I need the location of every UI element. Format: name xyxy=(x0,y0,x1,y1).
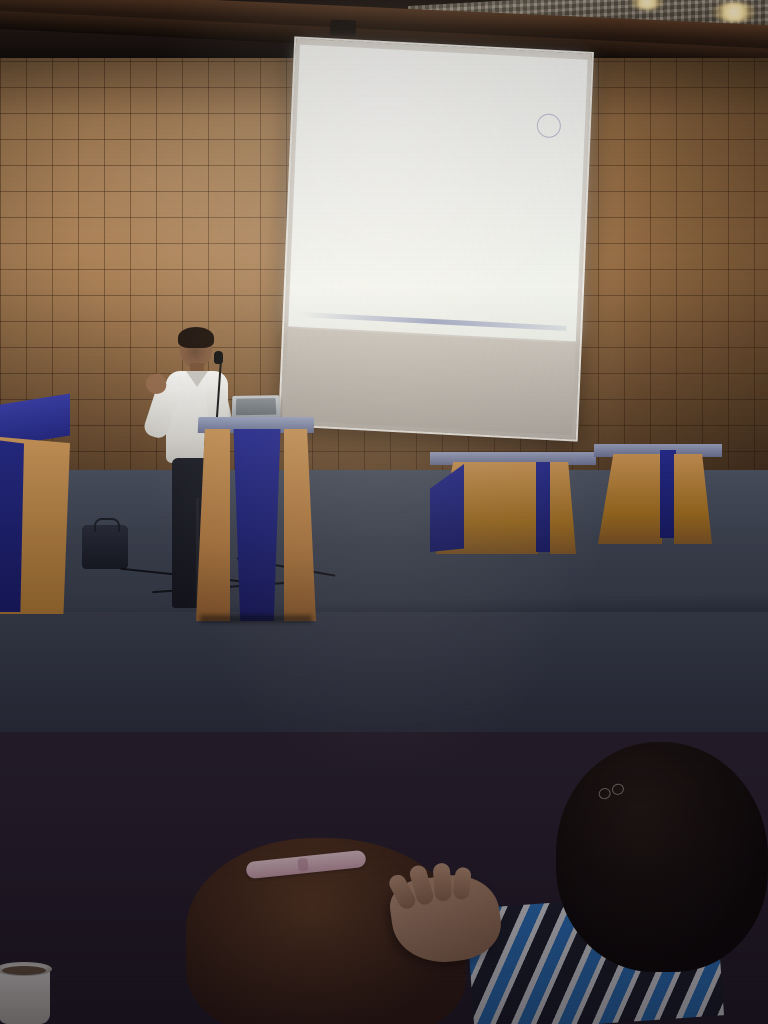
auditorium-photo xyxy=(0,0,768,1024)
table-wood-mid xyxy=(512,462,538,554)
ceiling-light xyxy=(712,2,756,22)
left-edge-lectern xyxy=(0,400,70,615)
stage-table-left xyxy=(430,452,596,552)
finger xyxy=(433,863,453,902)
microphone-head xyxy=(214,351,223,364)
projector-glow xyxy=(288,45,587,342)
table-blue-stripe xyxy=(536,462,550,552)
slide-footer-rule xyxy=(299,312,567,331)
screen-surface xyxy=(278,36,594,441)
laptop-screen xyxy=(236,398,276,415)
podium-shadow xyxy=(200,615,312,623)
laptop-bag xyxy=(82,525,128,569)
presenter-hair xyxy=(178,327,214,348)
slide-title xyxy=(348,93,528,102)
projected-slide xyxy=(288,45,587,342)
central-podium xyxy=(196,417,316,617)
table-wood-left-panel xyxy=(598,454,662,544)
kehila-net-logo xyxy=(522,102,577,137)
podium-right-panel xyxy=(284,429,316,621)
screen-blank-area xyxy=(284,328,575,435)
projector-mount xyxy=(330,19,357,36)
projection-screen xyxy=(278,36,594,441)
finger xyxy=(453,867,472,900)
podium-blue-panel xyxy=(229,429,285,621)
table-wood-right-panel xyxy=(674,454,712,544)
bag-handle xyxy=(94,518,120,532)
table-blue-panel xyxy=(660,450,676,538)
logo-subtitle xyxy=(524,103,578,106)
logo-text xyxy=(524,102,578,105)
podium-left-panel xyxy=(196,429,230,621)
stage-table-right xyxy=(594,444,722,542)
lectern-blue-stripe xyxy=(0,440,24,612)
table-blue-panel xyxy=(430,464,464,552)
auditorium-floor xyxy=(0,612,768,732)
table-wood-right-panel xyxy=(550,462,576,554)
logo-ring xyxy=(536,113,561,138)
foreground-man-head xyxy=(556,742,768,972)
cup-contents xyxy=(2,966,46,975)
